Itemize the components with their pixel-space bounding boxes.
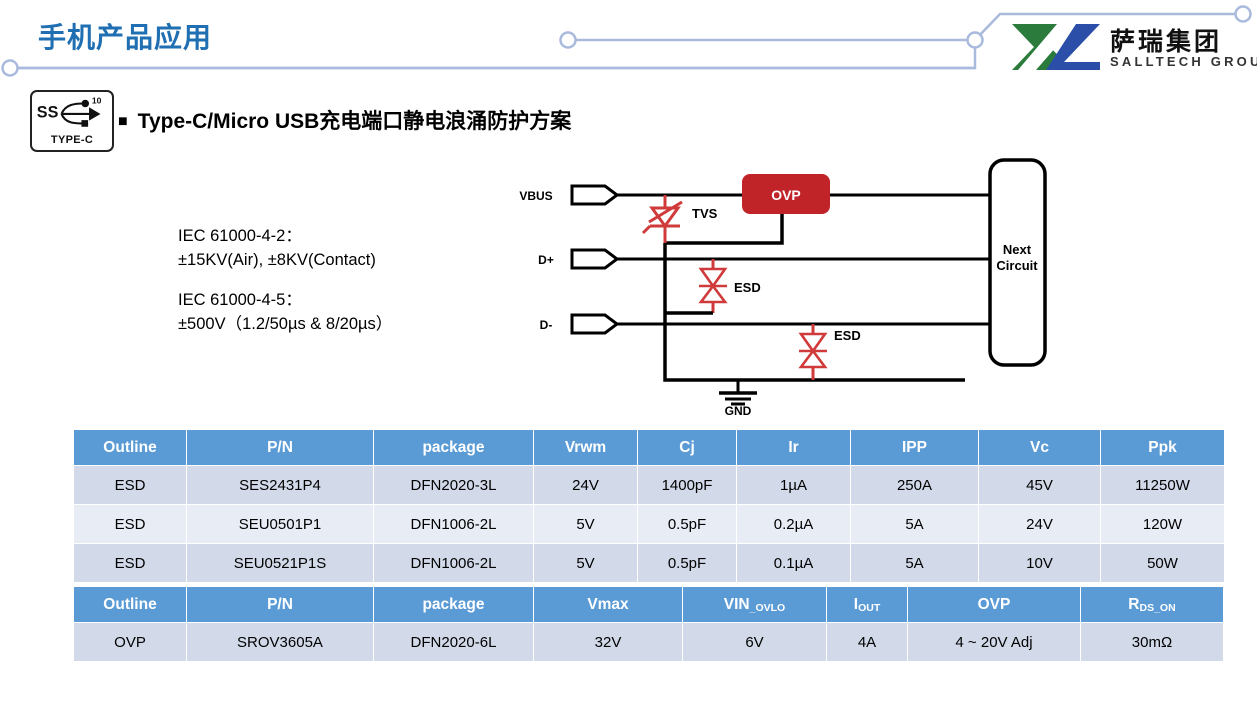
- iec-line-2: ±15KV(Air), ±8KV(Contact): [178, 248, 392, 272]
- gnd-label: GND: [725, 404, 752, 415]
- port-connector-vbus: [572, 186, 617, 204]
- col-header-cj: Cj: [638, 430, 736, 465]
- iec-line-3: IEC 61000-4-5：: [178, 288, 392, 312]
- spacer: [178, 272, 392, 288]
- table-row: OVP SROV3605A DFN2020-6L 32V 6V 4A 4 ~ 2…: [74, 623, 1223, 661]
- esd2-label: ESD: [834, 328, 861, 343]
- type-c-badge: SS 10 TYPE-C: [30, 90, 114, 152]
- esd1-triangle-top: [701, 269, 725, 286]
- ovp-spec-table: Outline P/N package Vmax VIN_OVLO IOUT O…: [73, 586, 1224, 662]
- tvs-label: TVS: [692, 206, 718, 221]
- table-row: ESD SES2431P4 DFN2020-3L 24V 1400pF 1µA …: [74, 466, 1224, 504]
- type-c-badge-label: TYPE-C: [32, 134, 112, 146]
- esd2-triangle-bottom: [801, 351, 825, 367]
- cell-pn: SEU0521P1S: [187, 544, 373, 582]
- cell-vrwm: 24V: [534, 466, 637, 504]
- cell-ppk: 11250W: [1101, 466, 1224, 504]
- cell-iout: 4A: [827, 623, 907, 661]
- cell-cj: 0.5pF: [638, 505, 736, 543]
- col-header-ppk: Ppk: [1101, 430, 1224, 465]
- col-header-vrwm: Vrwm: [534, 430, 637, 465]
- port-connector-dminus: [572, 315, 617, 333]
- svg-text:SS: SS: [37, 104, 59, 122]
- col-header-vmax: Vmax: [534, 587, 682, 622]
- esd1-label: ESD: [734, 280, 761, 295]
- cell-vc: 45V: [979, 466, 1100, 504]
- port-label-vbus: VBUS: [519, 189, 552, 203]
- col-header-pn: P/N: [187, 430, 373, 465]
- col-header-outline: Outline: [74, 587, 186, 622]
- iec-line-4: ±500V（1.2/50µs & 8/20µs）: [178, 312, 392, 336]
- cell-ppk: 120W: [1101, 505, 1224, 543]
- table-header-row: Outline P/N package Vrwm Cj Ir IPP Vc Pp…: [74, 430, 1224, 465]
- cell-ir: 0.2µA: [737, 505, 850, 543]
- cell-outline: ESD: [74, 466, 186, 504]
- ovp-block-label: OVP: [771, 187, 801, 203]
- table-row: ESD SEU0521P1S DFN1006-2L 5V 0.5pF 0.1µA…: [74, 544, 1224, 582]
- table-header-row: Outline P/N package Vmax VIN_OVLO IOUT O…: [74, 587, 1223, 622]
- salltech-logo-mark: [1010, 22, 1102, 72]
- col-header-iout: IOUT: [827, 587, 907, 622]
- port-label-dplus: D+: [538, 253, 554, 267]
- cell-vrwm: 5V: [534, 544, 637, 582]
- cell-vc: 10V: [979, 544, 1100, 582]
- port-connector-dplus: [572, 250, 617, 268]
- tvs-zener-hook-left: [643, 226, 650, 233]
- page-header: 手机产品应用 萨瑞集团 SALLTECH GROUP: [0, 0, 1257, 92]
- cell-vin-ovlo: 6V: [683, 623, 826, 661]
- svg-text:10: 10: [92, 96, 102, 106]
- iec-spec-block: IEC 61000-4-2： ±15KV(Air), ±8KV(Contact)…: [178, 224, 392, 336]
- col-header-rdson: RDS_ON: [1081, 587, 1223, 622]
- col-header-iout-sub: OUT: [858, 602, 880, 614]
- cell-pn: SEU0501P1: [187, 505, 373, 543]
- logo-name-en: SALLTECH GROUP: [1110, 54, 1257, 69]
- col-header-vin-ovlo-main: VIN: [724, 596, 750, 613]
- col-header-rdson-main: R: [1128, 596, 1139, 613]
- cell-ir: 0.1µA: [737, 544, 850, 582]
- next-circuit-label-2: Circuit: [996, 258, 1038, 273]
- col-header-outline: Outline: [74, 430, 186, 465]
- cell-cj: 0.5pF: [638, 544, 736, 582]
- col-header-vin-ovlo: VIN_OVLO: [683, 587, 826, 622]
- cell-ipp: 5A: [851, 544, 978, 582]
- cell-package: DFN1006-2L: [374, 544, 533, 582]
- cell-pn: SES2431P4: [187, 466, 373, 504]
- col-header-package: package: [374, 587, 533, 622]
- cell-outline: OVP: [74, 623, 186, 661]
- cell-package: DFN2020-6L: [374, 623, 533, 661]
- next-circuit-label-1: Next: [1003, 242, 1032, 257]
- wire-ovp-ground: [665, 214, 782, 243]
- col-header-ovp: OVP: [908, 587, 1080, 622]
- col-header-vc: Vc: [979, 430, 1100, 465]
- cell-vc: 24V: [979, 505, 1100, 543]
- col-header-ipp: IPP: [851, 430, 978, 465]
- cell-outline: ESD: [74, 544, 186, 582]
- cell-ovp: 4 ~ 20V Adj: [908, 623, 1080, 661]
- iec-line-1: IEC 61000-4-2：: [178, 224, 392, 248]
- col-header-rdson-sub: DS_ON: [1140, 602, 1176, 614]
- cell-rdson: 30mΩ: [1081, 623, 1223, 661]
- esd2-triangle-top: [801, 334, 825, 351]
- cell-package: DFN1006-2L: [374, 505, 533, 543]
- esd1-triangle-bottom: [701, 286, 725, 302]
- section-heading-text: Type-C/Micro USB充电端口静电浪涌防护方案: [138, 110, 572, 133]
- cell-vmax: 32V: [534, 623, 682, 661]
- bullet-icon: ■: [118, 113, 128, 131]
- brand-logo: 萨瑞集团 SALLTECH GROUP: [1010, 22, 1250, 74]
- cell-ipp: 5A: [851, 505, 978, 543]
- table-row: ESD SEU0501P1 DFN1006-2L 5V 0.5pF 0.2µA …: [74, 505, 1224, 543]
- port-label-dminus: D-: [540, 318, 553, 332]
- logo-name-cn: 萨瑞集团: [1110, 22, 1222, 58]
- esd-spec-table: Outline P/N package Vrwm Cj Ir IPP Vc Pp…: [73, 429, 1225, 583]
- cell-ipp: 250A: [851, 466, 978, 504]
- cell-ir: 1µA: [737, 466, 850, 504]
- cell-ppk: 50W: [1101, 544, 1224, 582]
- col-header-pn: P/N: [187, 587, 373, 622]
- cell-cj: 1400pF: [638, 466, 736, 504]
- cell-vrwm: 5V: [534, 505, 637, 543]
- col-header-package: package: [374, 430, 533, 465]
- cell-outline: ESD: [74, 505, 186, 543]
- section-heading: ■Type-C/Micro USB充电端口静电浪涌防护方案: [118, 105, 571, 135]
- protection-circuit-diagram: VBUS D+ D- OVP TVS ESD ESD GND Next Circ…: [510, 150, 1070, 415]
- col-header-vin-ovlo-sub: _OVLO: [750, 602, 786, 614]
- cell-pn: SROV3605A: [187, 623, 373, 661]
- col-header-ir: Ir: [737, 430, 850, 465]
- usb-superspeed-icon: SS 10: [33, 94, 109, 132]
- cell-package: DFN2020-3L: [374, 466, 533, 504]
